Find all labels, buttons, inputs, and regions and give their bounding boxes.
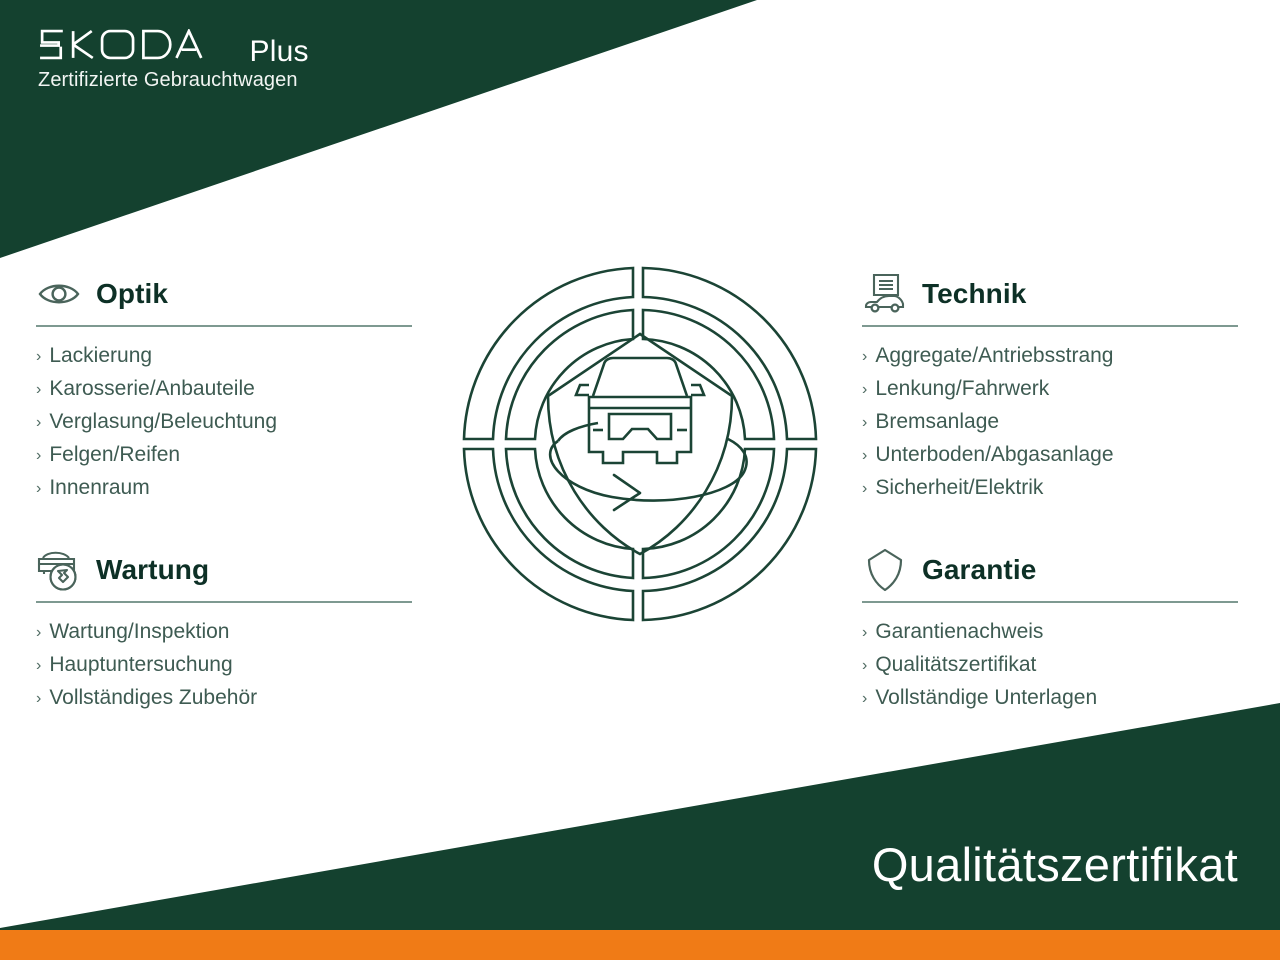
block-divider — [36, 601, 412, 603]
list-item-label: Unterboden/Abgasanlage — [875, 439, 1113, 470]
list-item-label: Garantienachweis — [875, 616, 1043, 647]
chevron-right-icon: › — [862, 650, 867, 681]
list-item-label: Vollständiges Zubehör — [49, 682, 257, 713]
list-item: ›Felgen/Reifen — [36, 439, 414, 472]
block-title: Technik — [922, 278, 1026, 310]
chevron-right-icon: › — [862, 341, 867, 372]
list-item: ›Unterboden/Abgasanlage — [862, 439, 1240, 472]
list-item: ›Vollständiges Zubehör — [36, 682, 414, 715]
block-title: Optik — [96, 278, 168, 310]
block-item-list: ›Lackierung ›Karosserie/Anbauteile ›Verg… — [36, 340, 414, 505]
chevron-right-icon: › — [36, 650, 41, 681]
brand-tagline: Zertifizierte Gebrauchtwagen — [38, 69, 309, 92]
list-item: ›Bremsanlage — [862, 406, 1240, 439]
list-item: ›Garantienachweis — [862, 616, 1240, 649]
list-item: ›Innenraum — [36, 472, 414, 505]
footer-headline: Qualitätszertifikat — [872, 841, 1238, 888]
block-item-list: ›Aggregate/Antriebsstrang ›Lenkung/Fahrw… — [862, 340, 1240, 505]
list-item-label: Felgen/Reifen — [49, 439, 180, 470]
feature-block-technik: Technik ›Aggregate/Antriebsstrang ›Lenku… — [862, 270, 1240, 505]
shield-icon — [862, 548, 908, 592]
orange-base-bar — [0, 930, 1280, 960]
bottom-green-wedge — [0, 703, 1280, 932]
chevron-right-icon: › — [36, 341, 41, 372]
chevron-right-icon: › — [862, 617, 867, 648]
list-item-label: Verglasung/Beleuchtung — [49, 406, 277, 437]
chevron-right-icon: › — [36, 473, 41, 504]
car-wrench-icon — [36, 548, 82, 592]
block-divider — [862, 601, 1238, 603]
skoda-wordmark — [38, 28, 241, 61]
list-item: ›Qualitätszertifikat — [862, 649, 1240, 682]
list-item-label: Vollständige Unterlagen — [875, 682, 1097, 713]
block-header: Wartung — [36, 546, 414, 594]
list-item-label: Lackierung — [49, 340, 152, 371]
list-item-label: Bremsanlage — [875, 406, 999, 437]
chevron-right-icon: › — [36, 440, 41, 471]
chevron-right-icon: › — [862, 407, 867, 438]
chevron-right-icon: › — [36, 374, 41, 405]
list-item: ›Karosserie/Anbauteile — [36, 373, 414, 406]
chevron-right-icon: › — [36, 683, 41, 714]
list-item: ›Sicherheit/Elektrik — [862, 472, 1240, 505]
certificate-poster: Plus Zertifizierte Gebrauchtwagen — [0, 0, 1280, 960]
list-item-label: Qualitätszertifikat — [875, 649, 1036, 680]
list-item-label: Hauptuntersuchung — [49, 649, 232, 680]
list-item: ›Lackierung — [36, 340, 414, 373]
chevron-right-icon: › — [36, 617, 41, 648]
car-document-icon — [862, 272, 908, 316]
list-item: ›Wartung/Inspektion — [36, 616, 414, 649]
feature-block-optik: Optik ›Lackierung ›Karosserie/Anbauteile… — [36, 270, 414, 505]
block-header: Optik — [36, 270, 414, 318]
list-item-label: Lenkung/Fahrwerk — [875, 373, 1049, 404]
block-title: Garantie — [922, 554, 1036, 586]
chevron-right-icon: › — [36, 407, 41, 438]
block-divider — [862, 325, 1238, 327]
list-item-label: Innenraum — [49, 472, 149, 503]
block-title: Wartung — [96, 554, 209, 586]
chevron-right-icon: › — [862, 440, 867, 471]
chevron-right-icon: › — [862, 374, 867, 405]
block-header: Garantie — [862, 546, 1240, 594]
list-item-label: Karosserie/Anbauteile — [49, 373, 254, 404]
shield-car-orbit-emblem — [452, 256, 828, 632]
block-item-list: ›Wartung/Inspektion ›Hauptuntersuchung ›… — [36, 616, 414, 715]
brand-logo-row: Plus — [38, 28, 309, 64]
feature-block-garantie: Garantie ›Garantienachweis ›Qualitätszer… — [862, 546, 1240, 715]
block-item-list: ›Garantienachweis ›Qualitätszertifikat ›… — [862, 616, 1240, 715]
block-header: Technik — [862, 270, 1240, 318]
eye-icon — [36, 272, 82, 316]
list-item: ›Verglasung/Beleuchtung — [36, 406, 414, 439]
feature-block-wartung: Wartung ›Wartung/Inspektion ›Hauptunters… — [36, 546, 414, 715]
chevron-right-icon: › — [862, 473, 867, 504]
list-item: ›Aggregate/Antriebsstrang — [862, 340, 1240, 373]
list-item-label: Wartung/Inspektion — [49, 616, 229, 647]
list-item: ›Lenkung/Fahrwerk — [862, 373, 1240, 406]
brand-logo: Plus Zertifizierte Gebrauchtwagen — [38, 28, 309, 92]
list-item: ›Hauptuntersuchung — [36, 649, 414, 682]
block-divider — [36, 325, 412, 327]
brand-suffix: Plus — [250, 37, 309, 67]
list-item-label: Sicherheit/Elektrik — [875, 472, 1043, 503]
list-item-label: Aggregate/Antriebsstrang — [875, 340, 1113, 371]
chevron-right-icon: › — [862, 683, 867, 714]
list-item: ›Vollständige Unterlagen — [862, 682, 1240, 715]
